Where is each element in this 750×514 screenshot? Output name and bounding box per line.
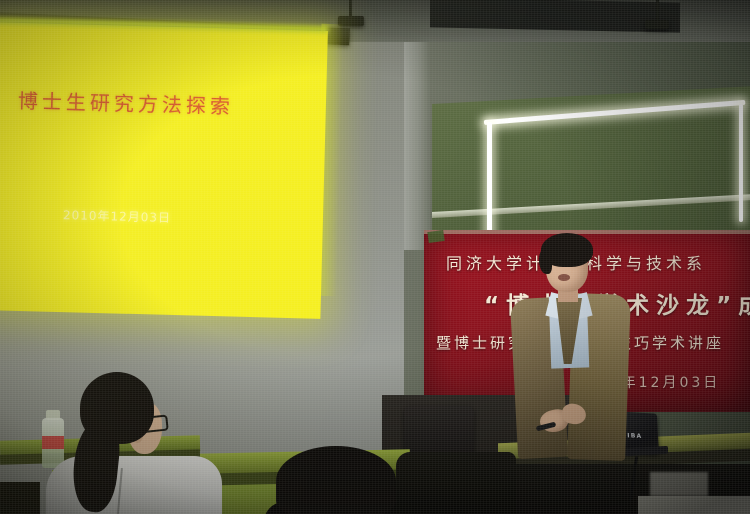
- slide-title-text: 博士生研究方法探索: [18, 85, 235, 120]
- foreground-dark-shape-left: [0, 482, 40, 514]
- audience-second-hair: [276, 446, 396, 514]
- ceiling-lamp-icon: [645, 20, 669, 29]
- fluorescent-tube-light: [487, 122, 492, 246]
- speaker-hair-side: [539, 248, 552, 274]
- banner-clip-icon: [427, 230, 444, 243]
- audience-person-woman: [32, 372, 222, 514]
- desk-front-panel: [638, 496, 750, 514]
- ceiling-dark-panel: [430, 0, 680, 33]
- projection-screen: 博士生研究方法探索 2010年12月03日: [0, 22, 328, 319]
- audience-person-second: [276, 446, 404, 514]
- slide-date-text: 2010年12月03日: [63, 206, 172, 226]
- slide-background: [0, 22, 328, 319]
- lecture-hall-photo: 博士生研究方法探索 2010年12月03日 同济大学计算机科学与技术系 “博士生…: [0, 0, 750, 514]
- fluorescent-tube-light: [739, 104, 743, 222]
- speaker-mouth: [558, 274, 570, 281]
- speaker-person: [508, 228, 632, 474]
- foreground-dark-shape-right: [396, 452, 516, 514]
- lamp-hanger-rod: [656, 0, 659, 22]
- desk-light-reflection: [650, 472, 708, 496]
